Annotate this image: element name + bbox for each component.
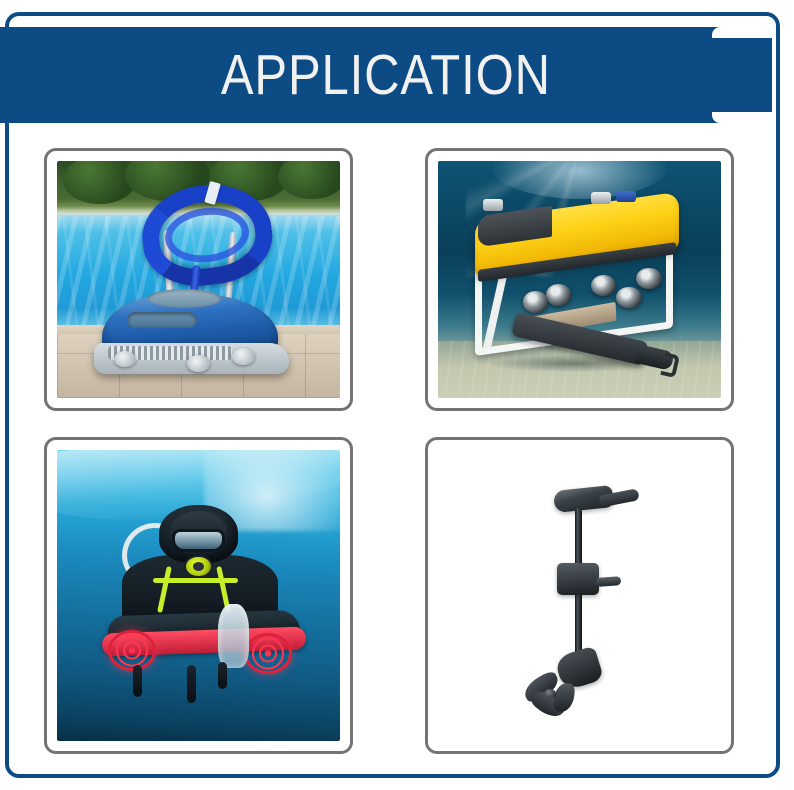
page-title: APPLICATION	[221, 47, 551, 104]
gallery-card-diver-sea-scooter[interactable]: Scuba diver riding a red twin-propeller …	[44, 437, 353, 754]
gallery-card-pool-cleaner[interactable]: Robotic swimming pool cleaner with coile…	[44, 148, 353, 411]
underwater-rov-image: Yellow and white underwater ROV with man…	[438, 161, 721, 398]
ribbon-notch-bottom	[712, 112, 772, 123]
header-banner: APPLICATION	[0, 27, 772, 123]
application-gallery-grid: Robotic swimming pool cleaner with coile…	[44, 148, 734, 754]
trolling-motor-image: Black electric outboard trolling motor w…	[438, 450, 721, 741]
application-page: APPLICATION	[0, 0, 794, 790]
diver-sea-scooter-image: Scuba diver riding a red twin-propeller …	[57, 450, 340, 741]
gallery-card-underwater-rov[interactable]: Yellow and white underwater ROV with man…	[425, 148, 734, 411]
gallery-card-trolling-motor[interactable]: Black electric outboard trolling motor w…	[425, 437, 734, 754]
ribbon-notch-top	[712, 27, 772, 38]
pool-cleaner-image: Robotic swimming pool cleaner with coile…	[57, 161, 340, 398]
